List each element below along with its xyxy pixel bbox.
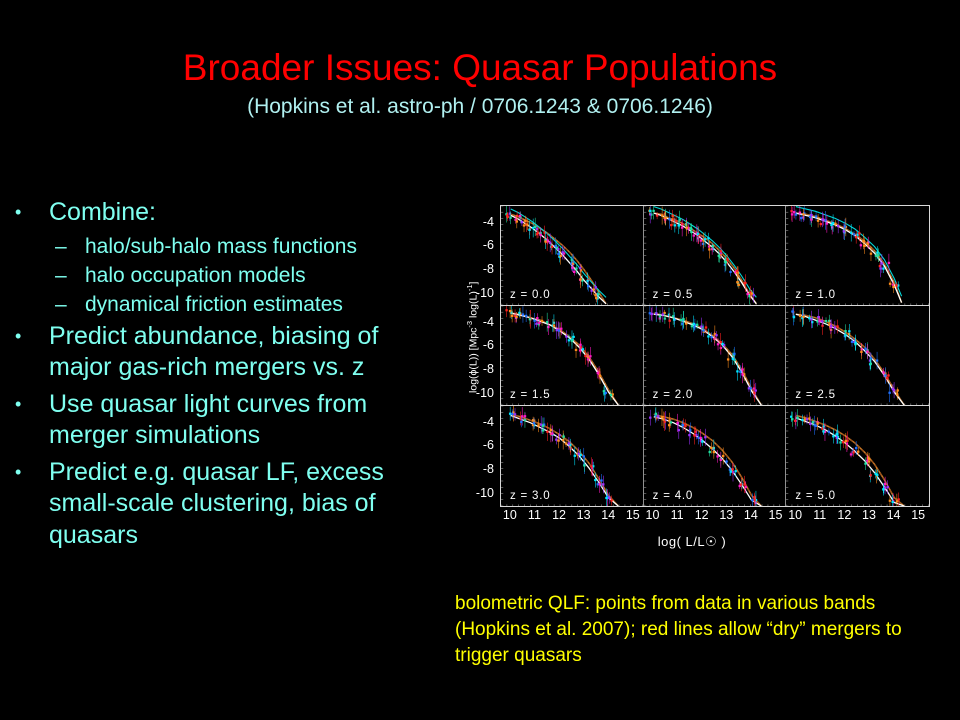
chart-y-tick-label: -6 [483, 438, 494, 452]
title-block: Broader Issues: Quasar Populations (Hopk… [0, 46, 960, 120]
chart-x-axis-label: log( L/L☉ ) [442, 534, 942, 550]
quasar-luminosity-function-figure: log(ϕ(L)) [Mpc-3 log(L)-1] -4-6-8-10-4-6… [442, 190, 942, 560]
figure-caption: bolometric QLF: points from data in vari… [455, 591, 950, 669]
bullet-text: Use quasar light curves from merger simu… [49, 389, 438, 452]
chart-subpanel: z = 0.0 [501, 206, 644, 306]
bullet-text: halo occupation models [85, 263, 438, 289]
chart-subpanel: z = 4.0 [644, 406, 787, 506]
chart-x-tick-label: 14 [887, 508, 901, 522]
chart-subpanel: z = 5.0 [786, 406, 929, 506]
dash-marker-icon: – [55, 263, 85, 289]
chart-subpanel: z = 1.0 [786, 206, 929, 306]
chart-subpanel: z = 3.0 [501, 406, 644, 506]
chart-x-tick-label: 14 [601, 508, 615, 522]
chart-x-tick-label: 12 [695, 508, 709, 522]
chart-x-tick-label: 11 [671, 508, 684, 522]
chart-y-tick-label: -8 [483, 362, 494, 376]
dash-marker-icon: – [55, 292, 85, 318]
chart-y-tick-group: -4-6-8-10 [442, 205, 498, 305]
chart-y-tick-label: -10 [476, 386, 494, 400]
chart-x-tick-label: 12 [552, 508, 566, 522]
chart-y-tick-group: -4-6-8-10 [442, 405, 498, 505]
bullet-item: •Combine: [8, 197, 438, 229]
sub-bullet-item: –halo occupation models [8, 263, 438, 289]
chart-y-tick-label: -6 [483, 338, 494, 352]
chart-x-tick-label: 12 [837, 508, 851, 522]
bullet-text: halo/sub-halo mass functions [85, 234, 438, 260]
bullet-text: Predict abundance, biasing of major gas-… [49, 321, 438, 384]
chart-x-tick-label: 15 [911, 508, 925, 522]
bullet-marker-icon: • [8, 197, 49, 229]
sub-bullet-item: –halo/sub-halo mass functions [8, 234, 438, 260]
bullet-marker-icon: • [8, 457, 49, 489]
chart-y-tick-label: -10 [476, 486, 494, 500]
chart-y-tick-label: -8 [483, 262, 494, 276]
chart-subpanel: z = 1.5 [501, 306, 644, 406]
chart-x-tick-label: 15 [626, 508, 640, 522]
chart-panel-grid: z = 0.0z = 0.5z = 1.0z = 1.5z = 2.0z = 2… [500, 205, 930, 507]
chart-x-tick-label: 14 [744, 508, 758, 522]
page-subtitle: (Hopkins et al. astro-ph / 0706.1243 & 0… [0, 93, 960, 120]
bullet-marker-icon: • [8, 389, 49, 421]
bullet-text: dynamical friction estimates [85, 292, 438, 318]
chart-x-tick-label: 15 [769, 508, 783, 522]
bullet-text: Combine: [49, 197, 438, 229]
chart-y-tick-label: -6 [483, 238, 494, 252]
chart-x-tick-label: 13 [577, 508, 591, 522]
bullet-list: •Combine:–halo/sub-halo mass functions–h… [8, 197, 438, 556]
chart-x-tick-label: 11 [528, 508, 541, 522]
bullet-text: Predict e.g. quasar LF, excess small-sca… [49, 457, 438, 552]
bullet-marker-icon: • [8, 321, 49, 353]
chart-subpanel: z = 2.5 [786, 306, 929, 406]
chart-y-tick-group: -4-6-8-10 [442, 305, 498, 405]
chart-y-tick-label: -10 [476, 286, 494, 300]
bullet-item: •Predict abundance, biasing of major gas… [8, 321, 438, 384]
chart-subpanel: z = 0.5 [644, 206, 787, 306]
chart-y-tick-label: -4 [483, 215, 494, 229]
chart-y-tick-label: -4 [483, 415, 494, 429]
chart-x-tick-label: 13 [862, 508, 876, 522]
chart-x-tick-label: 10 [646, 508, 660, 522]
sub-bullet-item: –dynamical friction estimates [8, 292, 438, 318]
chart-x-tick-label: 10 [788, 508, 802, 522]
bullet-item: •Predict e.g. quasar LF, excess small-sc… [8, 457, 438, 552]
chart-y-tick-label: -4 [483, 315, 494, 329]
bullet-item: •Use quasar light curves from merger sim… [8, 389, 438, 452]
chart-x-tick-label: 11 [813, 508, 826, 522]
chart-subpanel: z = 2.0 [644, 306, 787, 406]
chart-x-tick-label: 10 [503, 508, 517, 522]
chart-x-tick-label: 13 [719, 508, 733, 522]
page-title: Broader Issues: Quasar Populations [0, 46, 960, 90]
chart-y-tick-label: -8 [483, 462, 494, 476]
dash-marker-icon: – [55, 234, 85, 260]
